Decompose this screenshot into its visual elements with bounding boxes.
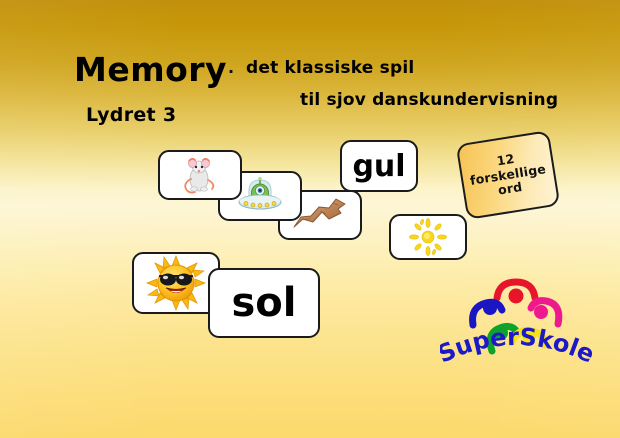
yellow-splash-icon <box>408 218 448 256</box>
logo-figure-red <box>497 282 535 304</box>
superskole-logo-graphic: SuperSkole <box>440 276 592 368</box>
memory-card-splash[interactable] <box>389 214 467 260</box>
memory-card-mouse[interactable] <box>158 150 242 200</box>
memory-card-word-gul[interactable]: gul <box>340 140 418 192</box>
page-title: Memory <box>74 50 227 89</box>
logo-wordmark: SuperSkole <box>440 323 592 368</box>
poster-canvas: Memory · det klassiske spil til sjov dan… <box>0 0 620 438</box>
memory-card-word-sol[interactable]: sol <box>208 268 320 338</box>
sun-sunglasses-icon <box>146 255 206 311</box>
logo-figure-pink <box>531 301 559 324</box>
page-subtitle: Lydret 3 <box>86 104 176 126</box>
superskole-logo: SuperSkole <box>440 276 592 368</box>
title-separator-dot: · <box>228 62 234 81</box>
logo-figure-blue <box>473 301 502 325</box>
tagline-line-1: det klassiske spil <box>246 58 414 78</box>
mouse-icon <box>175 155 225 195</box>
tagline-line-2: til sjov danskundervisning <box>300 90 558 110</box>
info-card-word-count: 12 forskellige ord <box>456 130 561 220</box>
memory-card-sun[interactable] <box>132 252 220 314</box>
info-card-text: 12 forskellige ord <box>467 147 550 203</box>
